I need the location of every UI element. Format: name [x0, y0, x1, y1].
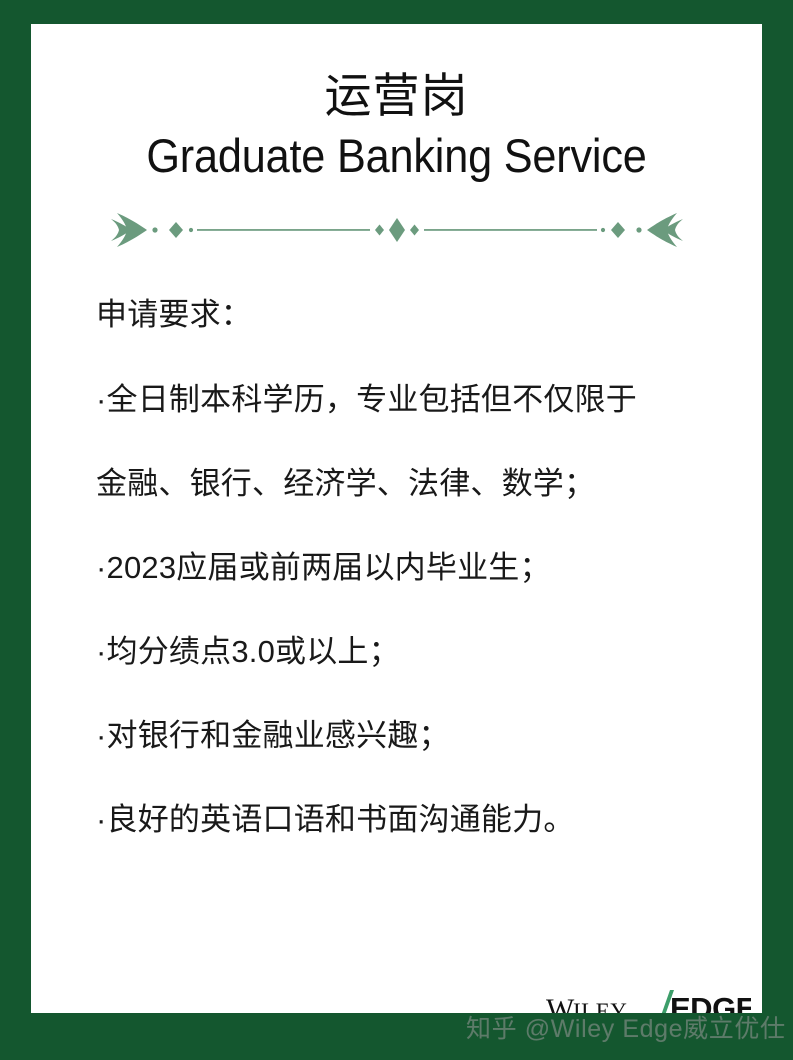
page-title: 运营岗 Graduate Banking Service [31, 65, 762, 185]
spacer [96, 334, 736, 381]
list-item: ·全日制本科学历，专业包括但不仅限于 [96, 381, 736, 419]
list-item: ·对银行和金融业感兴趣； [96, 717, 736, 755]
poster-canvas: 运营岗 Graduate Banking Service [0, 0, 793, 1060]
spacer [96, 671, 736, 717]
zhihu-watermark: 知乎 @Wiley Edge威立优仕 [466, 1014, 786, 1044]
list-item: ·均分绩点3.0或以上； [96, 633, 736, 671]
ornamental-divider [31, 208, 762, 252]
logo-word-wiley-rest: ILEY [573, 999, 627, 1013]
title-english: Graduate Banking Service [60, 127, 733, 185]
list-item: ·良好的英语口语和书面沟通能力。 [96, 801, 736, 839]
spacer [96, 587, 736, 633]
title-chinese: 运营岗 [31, 65, 762, 127]
white-card: 运营岗 Graduate Banking Service [31, 24, 762, 1013]
spacer [96, 755, 736, 801]
wiley-edge-logo: W ILEY EDGE [546, 986, 751, 1013]
list-item: ·2023应届或前两届以内毕业生； [96, 549, 736, 587]
logo-word-wiley: W [546, 993, 575, 1013]
requirements-block: 申请要求： ·全日制本科学历，专业包括但不仅限于 金融、银行、经济学、法律、数学… [96, 296, 736, 839]
spacer [96, 503, 736, 549]
list-item-continuation: 金融、银行、经济学、法律、数学； [96, 465, 736, 503]
ornamental-divider-icon [107, 208, 687, 252]
wiley-edge-logo-icon: W ILEY EDGE [546, 986, 751, 1013]
logo-word-edge: EDGE [670, 991, 751, 1013]
requirements-lead: 申请要求： [96, 296, 736, 334]
spacer [96, 419, 736, 465]
